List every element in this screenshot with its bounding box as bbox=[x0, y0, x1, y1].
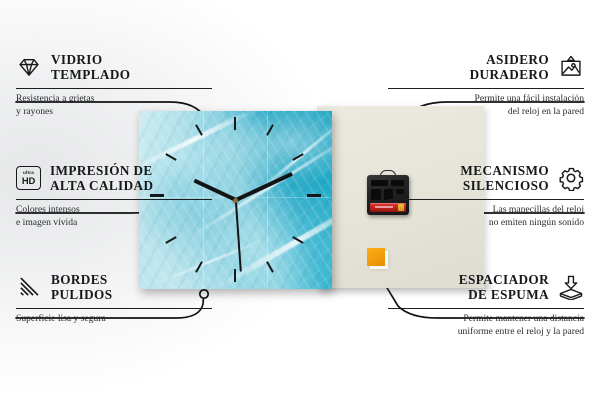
diagonal-lines-icon bbox=[16, 274, 42, 300]
feature-divider bbox=[388, 88, 584, 89]
feature-espaciador-de-espuma: ESPACIADORDE ESPUMA Permite mantener una… bbox=[388, 272, 584, 338]
ultra-hd-icon: ultra HD bbox=[16, 166, 41, 190]
picture-frame-icon bbox=[558, 54, 584, 80]
feature-description: Las manecillas del relojno emiten ningún… bbox=[388, 204, 584, 229]
feature-mecanismo-silencioso: MECANISMOSILENCIOSO Las manecillas del r… bbox=[388, 163, 584, 229]
feature-description: Resistencia a grietasy rayones bbox=[16, 93, 212, 118]
feature-title: VIDRIOTEMPLADO bbox=[51, 52, 130, 83]
clock-center-pivot bbox=[233, 198, 238, 203]
feature-vidrio-templado: VIDRIOTEMPLADO Resistencia a grietasy ra… bbox=[16, 52, 212, 118]
diamond-icon bbox=[16, 54, 42, 80]
feature-divider bbox=[388, 199, 584, 200]
feature-description: Colores intensose imagen vívida bbox=[16, 204, 212, 229]
feature-description: Permite una fácil instalacióndel reloj e… bbox=[388, 93, 584, 118]
foam-spacer-piece bbox=[367, 248, 385, 266]
feature-title: IMPRESIÓN DEALTA CALIDAD bbox=[50, 163, 153, 194]
feature-title: ESPACIADORDE ESPUMA bbox=[459, 272, 549, 303]
feature-title: MECANISMOSILENCIOSO bbox=[460, 163, 549, 194]
down-arrow-pad-icon bbox=[558, 274, 584, 300]
feature-asidero-duradero: ASIDERODURADERO Permite una fácil instal… bbox=[388, 52, 584, 118]
feature-title: ASIDERODURADERO bbox=[470, 52, 549, 83]
feature-bordes-pulidos: BORDESPULIDOS Superficie lisa y segura bbox=[16, 272, 212, 326]
clock-second-hand bbox=[235, 200, 242, 272]
feature-description: Permite mantener una distanciauniforme e… bbox=[388, 313, 584, 338]
feature-divider bbox=[388, 308, 584, 309]
infographic-canvas: VIDRIOTEMPLADO Resistencia a grietasy ra… bbox=[0, 0, 600, 400]
feature-divider bbox=[16, 88, 212, 89]
gear-icon bbox=[558, 165, 584, 191]
feature-impresion-alta-calidad: ultra HD IMPRESIÓN DEALTA CALIDAD Colore… bbox=[16, 163, 212, 229]
feature-divider bbox=[16, 199, 212, 200]
feature-divider bbox=[16, 308, 212, 309]
feature-title: BORDESPULIDOS bbox=[51, 272, 112, 303]
feature-description: Superficie lisa y segura bbox=[16, 313, 212, 326]
